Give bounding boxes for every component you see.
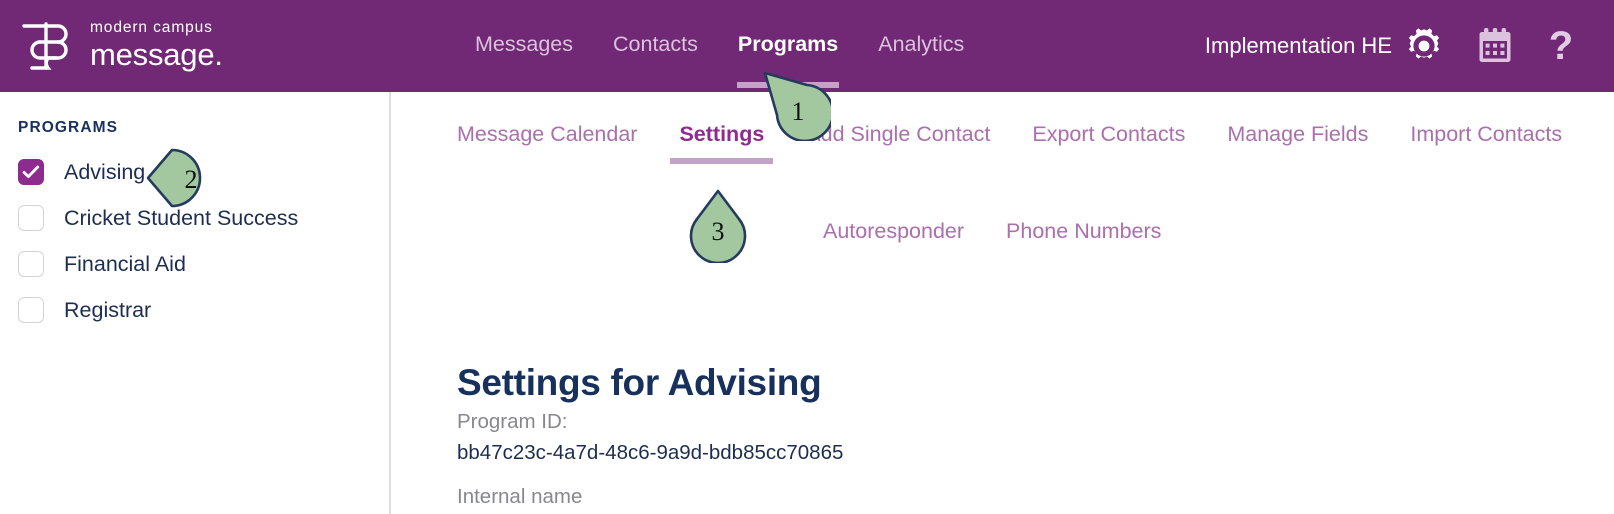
field-program-id: Program ID: bb47c23c-4a7d-48c6-9a9d-bdb8… [457, 410, 843, 465]
page-title: Settings for Advising [457, 362, 821, 404]
sidebar-item-registrar[interactable]: Registrar [18, 287, 378, 333]
annotation-marker-3: 3 [681, 189, 755, 263]
checkbox-cricket-student-success[interactable] [18, 205, 44, 231]
main-content: Message Calendar Settings Add Single Con… [393, 92, 1614, 514]
annotation-marker-1: 1 [757, 67, 831, 141]
calendar-icon[interactable] [1478, 28, 1512, 64]
main-navigation: Messages Contacts Programs Analytics [455, 0, 984, 92]
tab-message-calendar[interactable]: Message Calendar [457, 122, 637, 164]
sidebar-item-label: Advising [64, 160, 145, 185]
nav-item-messages[interactable]: Messages [455, 0, 593, 92]
tab-import-contacts[interactable]: Import Contacts [1410, 122, 1562, 164]
nav-item-contacts[interactable]: Contacts [593, 0, 718, 92]
sidebar-item-label: Financial Aid [64, 252, 186, 277]
field-label: Internal name [457, 485, 582, 509]
sidebar-item-label: Registrar [64, 298, 151, 323]
header-account-zone: Implementation HE [1205, 0, 1574, 92]
checkbox-registrar[interactable] [18, 297, 44, 323]
brand-wordmark: modern campus message. [90, 20, 223, 70]
annotation-marker-label: 3 [681, 195, 755, 269]
annotation-marker-2: 2 [146, 140, 220, 214]
field-label: Program ID: [457, 410, 843, 434]
brand-logo[interactable]: modern campus message. [18, 18, 223, 72]
checkbox-advising[interactable] [18, 159, 44, 185]
sidebar-heading: PROGRAMS [18, 119, 118, 137]
annotation-marker-label: 2 [154, 143, 228, 217]
gear-icon[interactable] [1404, 26, 1444, 66]
check-icon [19, 160, 43, 184]
nav-item-analytics[interactable]: Analytics [858, 0, 984, 92]
tab-autoresponder[interactable]: Autoresponder [823, 219, 964, 261]
tab-phone-numbers[interactable]: Phone Numbers [1006, 219, 1161, 261]
account-name-label[interactable]: Implementation HE [1205, 33, 1392, 59]
annotation-marker-label: 1 [761, 75, 835, 149]
checkbox-financial-aid[interactable] [18, 251, 44, 277]
tab-export-contacts[interactable]: Export Contacts [1032, 122, 1185, 164]
field-value: bb47c23c-4a7d-48c6-9a9d-bdb85cc70865 [457, 441, 843, 465]
app-window: modern campus message. Messages Contacts… [0, 0, 1614, 514]
field-internal-name: Internal name [457, 485, 582, 514]
program-subtabs-row-2: Autoresponder Phone Numbers [823, 219, 1161, 261]
sidebar-item-financial-aid[interactable]: Financial Aid [18, 241, 378, 287]
help-question-glyph: ? [1549, 26, 1573, 66]
tab-settings[interactable]: Settings [679, 122, 764, 164]
help-question-icon[interactable]: ? [1548, 25, 1574, 67]
tab-manage-fields[interactable]: Manage Fields [1227, 122, 1368, 164]
modern-campus-logo-mark-icon [18, 18, 76, 72]
brand-line-1: modern campus [90, 20, 223, 36]
brand-line-2: message. [90, 39, 223, 70]
program-subtabs-row-1: Message Calendar Settings Add Single Con… [457, 122, 1562, 164]
